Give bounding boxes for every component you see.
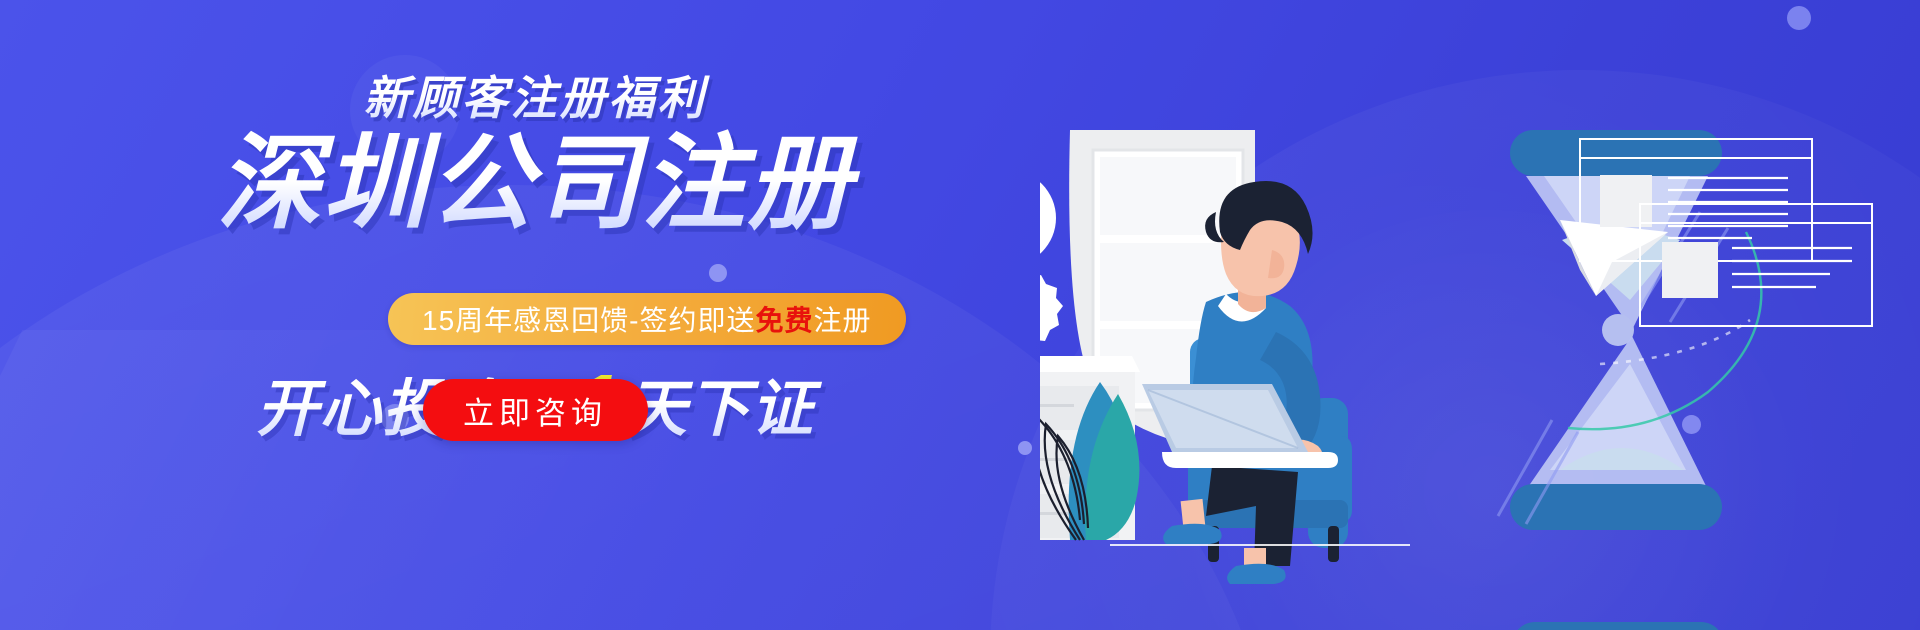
consult-now-button[interactable]: 立即咨询: [423, 379, 648, 441]
promo-suffix: 注册: [814, 299, 872, 339]
promo-pill: 15周年感恩回馈-签约即送免费注册: [388, 293, 906, 345]
cta-container: 立即咨询: [0, 379, 1070, 441]
promo-prefix: 15周年感恩回馈-签约即送: [422, 299, 755, 339]
ground-line: [1110, 544, 1410, 546]
document-card-2-icon: [1640, 204, 1872, 326]
promo-banner: 新顾客注册福利 深圳公司注册 15周年感恩回馈-签约即送免费注册 开心投资－1天…: [0, 0, 1920, 630]
promo-highlight: 免费: [755, 299, 813, 339]
page-title: 深圳公司注册: [0, 126, 1070, 242]
illustration: [1040, 0, 1920, 630]
eyebrow-text: 新顾客注册福利: [0, 62, 1070, 128]
copy-block: 新顾客注册福利 深圳公司注册 15周年感恩回馈-签约即送免费注册 开心投资－1天…: [0, 0, 1070, 630]
